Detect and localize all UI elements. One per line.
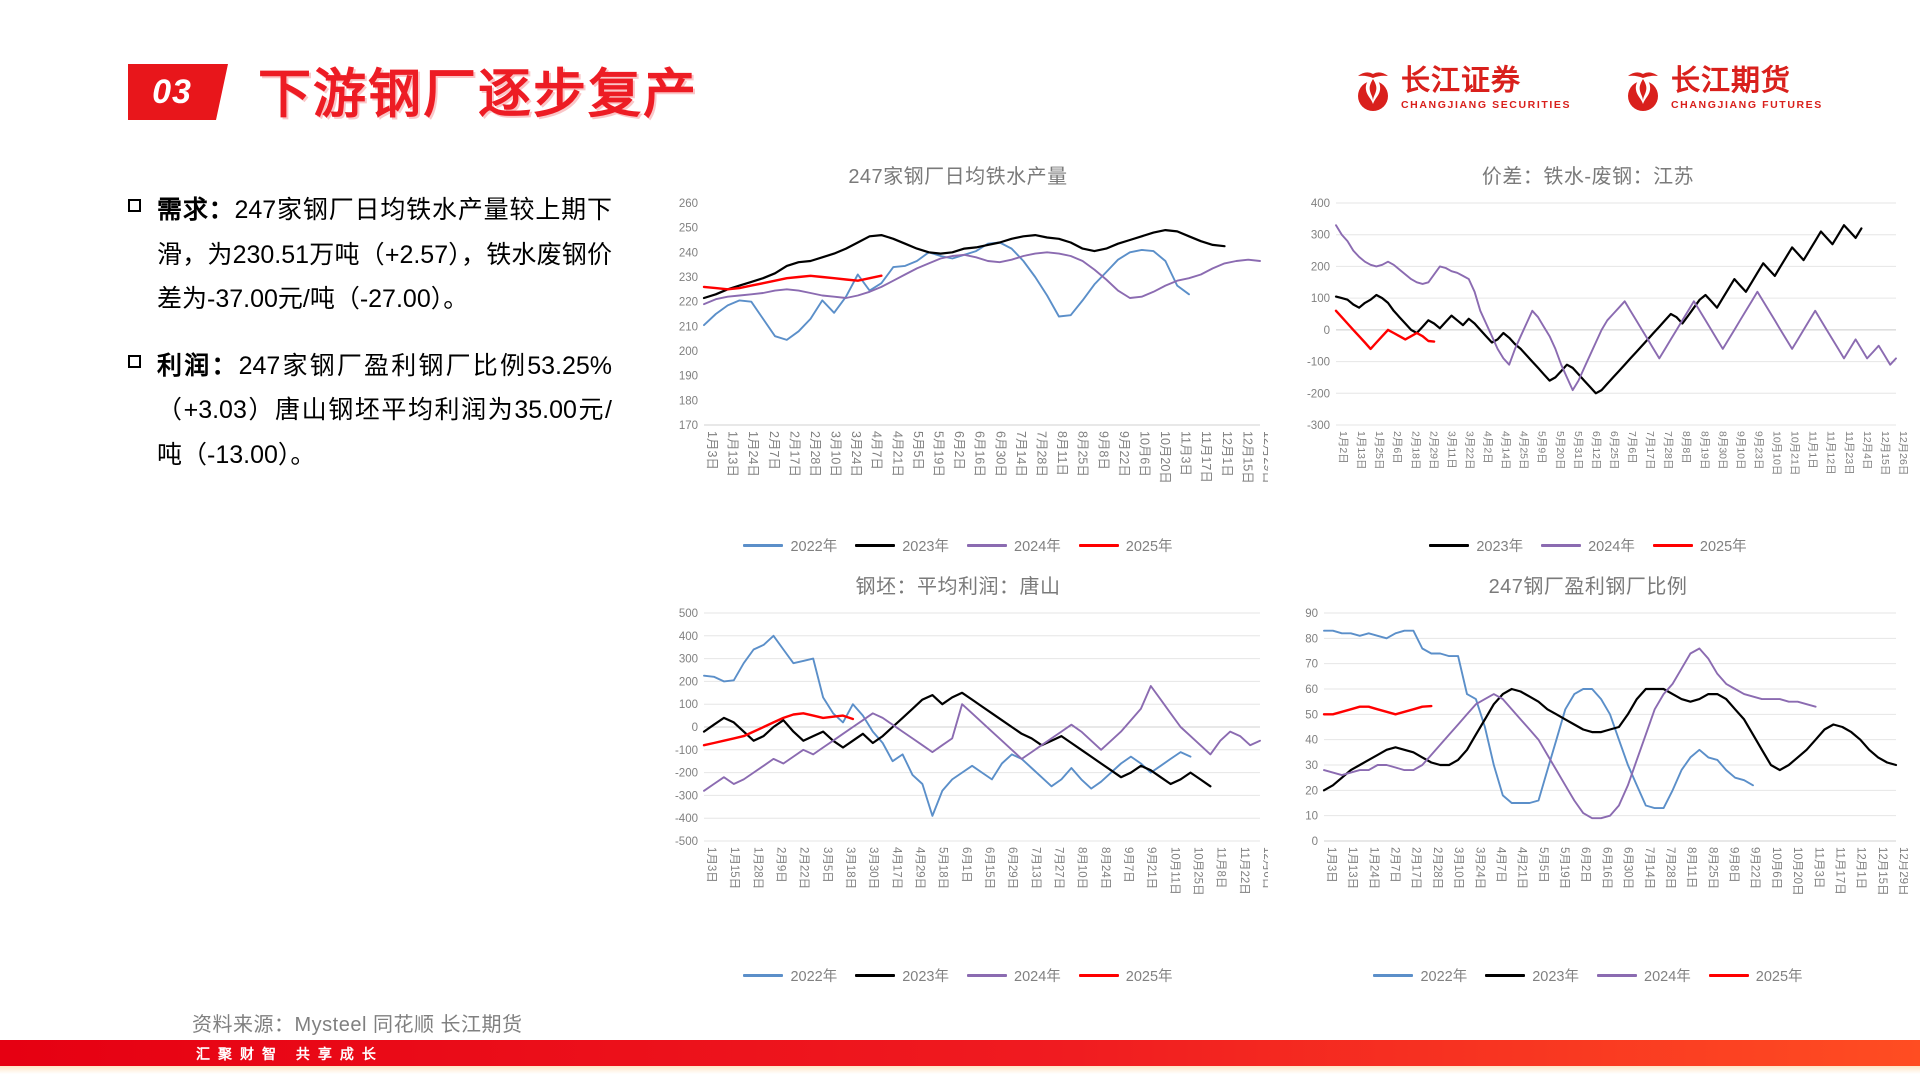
svg-text:12月29日: 12月29日	[1897, 847, 1908, 896]
svg-text:8月30日: 8月30日	[1716, 431, 1728, 470]
svg-text:400: 400	[679, 631, 698, 643]
svg-text:180: 180	[679, 395, 698, 407]
legend-entry-2024年[interactable]: 2024年	[1597, 965, 1691, 986]
svg-text:50: 50	[1305, 709, 1318, 721]
svg-text:200: 200	[1311, 261, 1330, 273]
svg-text:4月21日: 4月21日	[1516, 847, 1528, 889]
svg-text:11月1日: 11月1日	[1807, 431, 1819, 469]
legend-swatch	[743, 974, 783, 978]
logo-changjiang-securities: 长江证券 CHANGJIANG SECURITIES	[1352, 66, 1571, 112]
svg-text:3月10日: 3月10日	[1452, 847, 1464, 889]
changjiang-flame-icon	[1622, 66, 1664, 112]
page-title: 下游钢厂逐步复产	[258, 52, 698, 128]
svg-text:5月5日: 5月5日	[1537, 847, 1549, 883]
svg-text:12月15日: 12月15日	[1240, 431, 1254, 484]
svg-text:1月13日: 1月13日	[726, 431, 740, 477]
svg-text:4月21日: 4月21日	[890, 431, 904, 477]
svg-text:6月16日: 6月16日	[1600, 847, 1612, 889]
svg-text:200: 200	[679, 346, 698, 358]
svg-text:-100: -100	[1307, 357, 1330, 369]
svg-text:12月26日: 12月26日	[1897, 431, 1908, 475]
svg-text:10月25日: 10月25日	[1192, 847, 1204, 896]
svg-text:7月6日: 7月6日	[1626, 431, 1638, 464]
svg-text:90: 90	[1305, 608, 1318, 620]
svg-text:10月10日: 10月10日	[1771, 431, 1783, 475]
svg-text:100: 100	[679, 699, 698, 711]
chart-legend: 2023年2024年2025年	[1268, 535, 1908, 556]
chart-plot-area: 1701801902002102202302402502601月3日1月13日1…	[648, 193, 1268, 533]
svg-text:5月19日: 5月19日	[1558, 847, 1570, 889]
svg-text:9月10日: 9月10日	[1734, 431, 1746, 470]
legend-entry-2024年[interactable]: 2024年	[1541, 535, 1635, 556]
svg-text:3月30日: 3月30日	[867, 847, 879, 889]
svg-text:-400: -400	[675, 813, 698, 825]
svg-text:-100: -100	[675, 745, 698, 757]
legend-label: 2024年	[1014, 965, 1061, 986]
bullet-label-profit: 利润：	[157, 352, 239, 380]
svg-text:9月8日: 9月8日	[1728, 847, 1740, 883]
bullet-text-demand: 需求：247家钢厂日均铁水产量较上期下滑，为230.51万吨（+2.57），铁水…	[157, 188, 612, 322]
svg-text:5月19日: 5月19日	[932, 431, 946, 477]
svg-text:11月12日: 11月12日	[1825, 431, 1837, 475]
svg-text:2月9日: 2月9日	[775, 847, 787, 883]
svg-text:6月2日: 6月2日	[1579, 847, 1591, 883]
square-bullet-icon	[128, 355, 141, 368]
svg-text:80: 80	[1305, 633, 1318, 645]
svg-text:1月2日: 1月2日	[1337, 431, 1349, 464]
svg-text:2月18日: 2月18日	[1409, 431, 1421, 470]
svg-text:3月24日: 3月24日	[849, 431, 863, 477]
legend-entry-2023年[interactable]: 2023年	[855, 535, 949, 556]
svg-text:8月8日: 8月8日	[1680, 431, 1692, 464]
svg-text:8月24日: 8月24日	[1099, 847, 1111, 889]
svg-text:240: 240	[679, 247, 698, 259]
svg-text:1月3日: 1月3日	[705, 431, 719, 470]
legend-label: 2024年	[1014, 535, 1061, 556]
svg-text:2月28日: 2月28日	[808, 431, 822, 477]
svg-text:1月3日: 1月3日	[705, 847, 717, 883]
svg-text:250: 250	[679, 223, 698, 235]
legend-label: 2025年	[1126, 965, 1173, 986]
legend-entry-2022年[interactable]: 2022年	[743, 535, 837, 556]
svg-text:5月31日: 5月31日	[1572, 431, 1584, 470]
svg-text:8月11日: 8月11日	[1685, 847, 1697, 888]
svg-text:1月28日: 1月28日	[751, 847, 763, 889]
svg-text:1月13日: 1月13日	[1346, 847, 1358, 889]
svg-text:6月29日: 6月29日	[1006, 847, 1018, 889]
svg-text:2月17日: 2月17日	[1410, 847, 1422, 889]
legend-label: 2022年	[790, 535, 837, 556]
svg-text:70: 70	[1305, 659, 1318, 671]
svg-text:6月12日: 6月12日	[1590, 431, 1602, 470]
chart-legend: 2022年2023年2024年2025年	[1268, 965, 1908, 986]
legend-entry-2023年[interactable]: 2023年	[855, 965, 949, 986]
legend-entry-2022年[interactable]: 2022年	[743, 965, 837, 986]
svg-text:1月25日: 1月25日	[1373, 431, 1385, 470]
svg-text:30: 30	[1305, 760, 1318, 772]
chart-profit-ratio: 247钢厂盈利钢厂比例 01020304050607080901月3日1月13日…	[1268, 570, 1908, 990]
legend-label: 2023年	[902, 535, 949, 556]
chart-iron-output: 247家钢厂日均铁水产量 170180190200210220230240250…	[648, 160, 1268, 560]
logo-securities-name: 长江证券	[1401, 67, 1571, 96]
legend-swatch	[1079, 974, 1119, 978]
svg-text:210: 210	[679, 321, 698, 333]
bullet-item-demand: 需求：247家钢厂日均铁水产量较上期下滑，为230.51万吨（+2.57），铁水…	[128, 188, 638, 322]
legend-entry-2025年[interactable]: 2025年	[1653, 535, 1747, 556]
logo-securities-en: CHANGJIANG SECURITIES	[1401, 100, 1571, 111]
square-bullet-icon	[128, 199, 141, 212]
svg-text:10月6日: 10月6日	[1770, 847, 1782, 889]
svg-text:-200: -200	[675, 768, 698, 780]
legend-label: 2024年	[1588, 535, 1635, 556]
svg-text:230: 230	[679, 272, 698, 284]
svg-text:60: 60	[1305, 684, 1318, 696]
section-number-badge: 03	[128, 64, 216, 120]
legend-label: 2023年	[902, 965, 949, 986]
svg-text:12月1日: 12月1日	[1220, 431, 1234, 477]
svg-text:11月8日: 11月8日	[1215, 847, 1227, 888]
legend-entry-2024年[interactable]: 2024年	[967, 965, 1061, 986]
svg-text:2月6日: 2月6日	[1391, 431, 1403, 464]
svg-text:5月5日: 5月5日	[911, 431, 925, 470]
chart-legend: 2022年2023年2024年2025年	[648, 535, 1268, 556]
svg-text:1月24日: 1月24日	[746, 431, 760, 477]
svg-text:2月22日: 2月22日	[798, 847, 810, 889]
svg-text:2月29日: 2月29日	[1427, 431, 1439, 470]
svg-text:12月29日: 12月29日	[1261, 431, 1268, 484]
svg-text:300: 300	[1311, 230, 1330, 242]
svg-text:6月25日: 6月25日	[1608, 431, 1620, 470]
logo-futures-en: CHANGJIANG FUTURES	[1671, 100, 1823, 111]
legend-entry-2024年[interactable]: 2024年	[967, 535, 1061, 556]
svg-text:6月16日: 6月16日	[973, 431, 987, 477]
legend-label: 2022年	[790, 965, 837, 986]
svg-text:4月25日: 4月25日	[1518, 431, 1530, 470]
svg-text:6月15日: 6月15日	[983, 847, 995, 889]
legend-entry-2023年[interactable]: 2023年	[1485, 965, 1579, 986]
svg-text:11月17日: 11月17日	[1199, 431, 1213, 483]
svg-text:20: 20	[1305, 785, 1318, 797]
svg-text:4月14日: 4月14日	[1500, 431, 1512, 470]
chart-price-spread: 价差：铁水-废钢：江苏 -300-200-10001002003004001月2…	[1268, 160, 1908, 560]
svg-text:4月2日: 4月2日	[1482, 431, 1494, 464]
svg-text:2月17日: 2月17日	[787, 431, 801, 477]
chart-legend: 2022年2023年2024年2025年	[648, 965, 1268, 986]
bullet-item-profit: 利润：247家钢厂盈利钢厂比例53.25%（+3.03）唐山钢坯平均利润为35.…	[128, 344, 638, 478]
chart-title: 钢坯：平均利润：唐山	[648, 570, 1268, 599]
legend-label: 2022年	[1420, 965, 1467, 986]
svg-text:9月21日: 9月21日	[1145, 847, 1157, 889]
svg-text:4月7日: 4月7日	[1495, 847, 1507, 883]
svg-text:2月28日: 2月28日	[1431, 847, 1443, 889]
svg-text:11月3日: 11月3日	[1812, 847, 1824, 888]
logo-changjiang-futures: 长江期货 CHANGJIANG FUTURES	[1622, 66, 1823, 112]
svg-text:7月28日: 7月28日	[1662, 431, 1674, 470]
svg-text:7月27日: 7月27日	[1053, 847, 1065, 889]
svg-text:8月19日: 8月19日	[1698, 431, 1710, 470]
svg-text:12月1日: 12月1日	[1855, 847, 1867, 889]
svg-text:3月22日: 3月22日	[1464, 431, 1476, 470]
svg-text:8月25日: 8月25日	[1706, 847, 1718, 889]
svg-text:9月8日: 9月8日	[1096, 431, 1110, 470]
svg-text:3月24日: 3月24日	[1473, 847, 1485, 889]
svg-text:7月14日: 7月14日	[1014, 431, 1028, 477]
legend-swatch	[743, 544, 783, 548]
legend-label: 2025年	[1756, 965, 1803, 986]
legend-entry-2025年[interactable]: 2025年	[1709, 965, 1803, 986]
legend-swatch	[1485, 974, 1525, 978]
legend-swatch	[1373, 974, 1413, 978]
chart-title: 247家钢厂日均铁水产量	[648, 160, 1268, 189]
svg-text:200: 200	[679, 676, 698, 688]
legend-swatch	[967, 974, 1007, 978]
svg-text:8月10日: 8月10日	[1076, 847, 1088, 889]
svg-text:3月18日: 3月18日	[844, 847, 856, 889]
chart-billet-profit: 钢坯：平均利润：唐山 -500-400-300-200-100010020030…	[648, 570, 1268, 990]
svg-text:3月5日: 3月5日	[821, 847, 833, 883]
svg-text:5月9日: 5月9日	[1536, 431, 1548, 464]
svg-text:6月2日: 6月2日	[952, 431, 966, 470]
svg-text:400: 400	[1311, 198, 1330, 210]
svg-text:1月24日: 1月24日	[1367, 847, 1379, 889]
legend-swatch	[1653, 544, 1693, 548]
bullet-label-demand: 需求：	[157, 196, 235, 224]
legend-entry-2025年[interactable]: 2025年	[1079, 535, 1173, 556]
svg-text:9月7日: 9月7日	[1122, 847, 1134, 883]
svg-text:7月14日: 7月14日	[1643, 847, 1655, 889]
svg-text:260: 260	[679, 198, 698, 210]
svg-text:0: 0	[1324, 325, 1330, 337]
svg-text:170: 170	[679, 420, 698, 432]
svg-text:9月22日: 9月22日	[1749, 847, 1761, 889]
svg-text:-500: -500	[675, 836, 698, 848]
slide-header: 03 下游钢厂逐步复产 长江证券 CHANGJIANG SECURITIES	[0, 0, 1920, 150]
svg-text:11月3日: 11月3日	[1179, 431, 1193, 476]
svg-text:40: 40	[1305, 735, 1318, 747]
svg-text:8月11日: 8月11日	[1055, 431, 1069, 476]
bullet-text-profit: 利润：247家钢厂盈利钢厂比例53.25%（+3.03）唐山钢坯平均利润为35.…	[157, 344, 612, 478]
legend-label: 2024年	[1644, 965, 1691, 986]
svg-text:12月4日: 12月4日	[1861, 431, 1873, 470]
svg-text:300: 300	[679, 654, 698, 666]
legend-label: 2025年	[1700, 535, 1747, 556]
chart-title: 247钢厂盈利钢厂比例	[1268, 570, 1908, 599]
legend-swatch	[1429, 544, 1469, 548]
svg-text:-300: -300	[1307, 420, 1330, 432]
svg-text:10: 10	[1305, 811, 1318, 823]
svg-text:100: 100	[1311, 293, 1330, 305]
svg-text:2月7日: 2月7日	[1389, 847, 1401, 883]
legend-swatch	[967, 544, 1007, 548]
chart-plot-area: -300-200-10001002003004001月2日1月13日1月25日2…	[1268, 193, 1908, 533]
svg-text:2月7日: 2月7日	[767, 431, 781, 470]
svg-text:4月17日: 4月17日	[890, 847, 902, 889]
svg-text:10月11日: 10月11日	[1168, 847, 1180, 895]
svg-text:-300: -300	[675, 790, 698, 802]
svg-text:3月10日: 3月10日	[829, 431, 843, 477]
svg-text:1月13日: 1月13日	[1355, 431, 1367, 470]
svg-text:7月28日: 7月28日	[1035, 431, 1049, 477]
svg-text:190: 190	[679, 371, 698, 383]
legend-swatch	[1709, 974, 1749, 978]
legend-label: 2023年	[1476, 535, 1523, 556]
svg-text:8月25日: 8月25日	[1076, 431, 1090, 477]
svg-text:12月15日: 12月15日	[1876, 847, 1888, 896]
svg-text:9月23日: 9月23日	[1753, 431, 1765, 470]
svg-text:12月15日: 12月15日	[1879, 431, 1891, 475]
svg-text:7月28日: 7月28日	[1664, 847, 1676, 889]
chart-plot-area: -500-400-300-200-10001002003004005001月3日…	[648, 603, 1268, 963]
chart-title: 价差：铁水-废钢：江苏	[1268, 160, 1908, 189]
legend-swatch	[1079, 544, 1119, 548]
svg-text:11月17日: 11月17日	[1833, 847, 1845, 895]
chart-plot-area: 01020304050607080901月3日1月13日1月24日2月7日2月1…	[1268, 603, 1908, 963]
svg-text:5月18日: 5月18日	[937, 847, 949, 889]
legend-swatch	[1541, 544, 1581, 548]
svg-text:6月30日: 6月30日	[993, 431, 1007, 477]
svg-text:0: 0	[692, 722, 698, 734]
svg-text:12月6日: 12月6日	[1261, 847, 1268, 889]
logo-futures-name: 长江期货	[1671, 67, 1823, 96]
footer-shadow	[0, 1066, 1920, 1074]
svg-text:3月11日: 3月11日	[1445, 431, 1457, 469]
svg-text:5月20日: 5月20日	[1554, 431, 1566, 470]
svg-text:10月20日: 10月20日	[1158, 431, 1172, 484]
svg-text:220: 220	[679, 297, 698, 309]
legend-entry-2022年[interactable]: 2022年	[1373, 965, 1467, 986]
svg-text:1月15日: 1月15日	[728, 847, 740, 889]
source-note: 资料来源：Mysteel 同花顺 长江期货	[192, 1008, 523, 1037]
bullet-panel: 需求：247家钢厂日均铁水产量较上期下滑，为230.51万吨（+2.57），铁水…	[128, 188, 638, 499]
footer-slogan: 汇聚财智 共享成长	[196, 1044, 384, 1064]
svg-text:-200: -200	[1307, 388, 1330, 400]
legend-swatch	[1597, 974, 1637, 978]
svg-text:6月1日: 6月1日	[960, 847, 972, 883]
legend-swatch	[855, 544, 895, 548]
svg-text:11月22日: 11月22日	[1238, 847, 1250, 895]
svg-text:1月3日: 1月3日	[1325, 847, 1337, 883]
svg-text:10月21日: 10月21日	[1789, 431, 1801, 475]
svg-text:7月13日: 7月13日	[1029, 847, 1041, 889]
legend-entry-2023年[interactable]: 2023年	[1429, 535, 1523, 556]
svg-text:0: 0	[1312, 836, 1318, 848]
changjiang-flame-icon	[1352, 66, 1394, 112]
svg-text:6月30日: 6月30日	[1622, 847, 1634, 889]
svg-text:7月17日: 7月17日	[1644, 431, 1656, 470]
svg-text:11月23日: 11月23日	[1843, 431, 1855, 475]
legend-label: 2023年	[1532, 965, 1579, 986]
legend-label: 2025年	[1126, 535, 1173, 556]
svg-text:4月7日: 4月7日	[870, 431, 884, 470]
svg-text:9月22日: 9月22日	[1117, 431, 1131, 477]
legend-swatch	[855, 974, 895, 978]
svg-text:4月29日: 4月29日	[914, 847, 926, 889]
svg-text:500: 500	[679, 608, 698, 620]
svg-text:10月6日: 10月6日	[1137, 431, 1151, 477]
svg-text:10月20日: 10月20日	[1791, 847, 1803, 896]
legend-entry-2025年[interactable]: 2025年	[1079, 965, 1173, 986]
